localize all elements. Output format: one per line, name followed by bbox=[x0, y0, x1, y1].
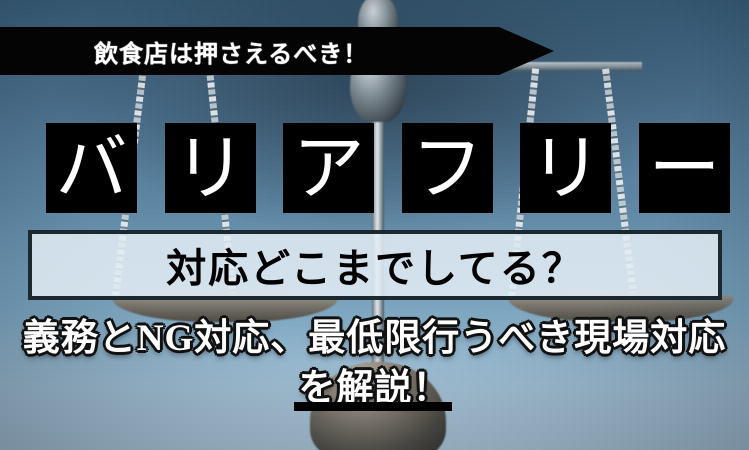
title-char-box-1: バ bbox=[46, 123, 137, 213]
title-char-box-6: ー bbox=[639, 123, 730, 213]
subtitle-panel: 対応どこまでしてる？ bbox=[28, 230, 722, 300]
title-character-boxes: バ リ ア フ リ ー bbox=[46, 123, 730, 213]
title-char-box-3: ア bbox=[283, 123, 374, 213]
subtitle-text: 対応どこまでしてる？ bbox=[166, 236, 584, 294]
description-line-1: 義務とNG対応、最低限行うべき現場対応 bbox=[0, 307, 749, 361]
blog-thumbnail-banner: 飲食店は押さえるべき！ バ リ ア フ リ ー 対応どこまでしてる？ 義務とNG… bbox=[0, 0, 749, 450]
title-char-box-4: フ bbox=[402, 123, 493, 213]
underline-bar bbox=[294, 402, 452, 411]
title-char-box-2: リ bbox=[165, 123, 256, 213]
arrow-ribbon: 飲食店は押さえるべき！ bbox=[0, 27, 554, 75]
arrow-ribbon-label: 飲食店は押さえるべき！ bbox=[94, 34, 368, 69]
title-char-box-5: リ bbox=[520, 123, 611, 213]
